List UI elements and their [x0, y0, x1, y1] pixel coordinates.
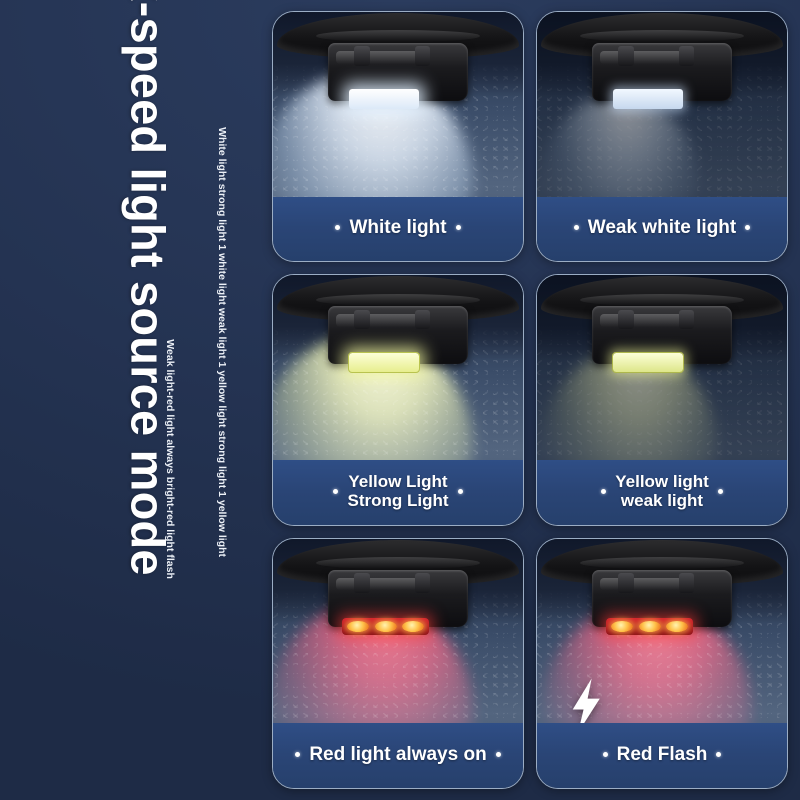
strap-clip-right [415, 573, 430, 593]
strap-clip-left [354, 573, 369, 593]
bullet-dot-right [456, 225, 461, 230]
lamp-housing [328, 570, 468, 628]
red-led-module [606, 618, 693, 635]
bullet-dot-left [574, 225, 579, 230]
headlamp-device [301, 17, 496, 117]
lamp-housing [592, 43, 732, 101]
led-emitter [347, 621, 369, 632]
led-emitter [375, 621, 397, 632]
mode-card-grid: White lightWeak white lightYellow LightS… [272, 11, 788, 789]
bullet-dot-left [601, 489, 606, 494]
mode-caption-bar: Red Flash [537, 723, 787, 788]
led-emitter [611, 621, 633, 632]
strap-clip-right [415, 46, 430, 66]
title-column: Six-speed light source mode White light … [0, 0, 270, 800]
strap-clip-right [679, 573, 694, 593]
mode-caption-bar: White light [273, 197, 523, 262]
lamp-housing [592, 570, 732, 628]
strap-clip-left [354, 310, 369, 330]
mode-label-line: White light [349, 217, 446, 239]
headlamp-device [565, 280, 760, 380]
lamp-housing [592, 306, 732, 364]
mode-label: Yellow lightweak light [615, 472, 709, 511]
subtitle-line-1: White light strong light 1 white light w… [215, 112, 229, 572]
headlamp-device [565, 17, 760, 117]
cob-led-panel [349, 353, 419, 373]
mode-label-line: Red Flash [617, 744, 708, 766]
infographic-page: Six-speed light source mode White light … [0, 0, 800, 800]
mode-caption-bar: Weak white light [537, 197, 787, 262]
mode-label-line: Yellow light [615, 472, 709, 491]
led-emitter [402, 621, 424, 632]
bullet-dot-right [716, 752, 721, 757]
strap-clip-left [618, 573, 633, 593]
mode-card-red-light-always-on[interactable]: Red light always on [272, 538, 524, 789]
mode-caption-bar: Yellow LightStrong Light [273, 460, 523, 525]
mode-caption-bar: Yellow lightweak light [537, 460, 787, 525]
mode-card-red-flash[interactable]: Red Flash [536, 538, 788, 789]
mode-caption-bar: Red light always on [273, 723, 523, 788]
mode-card-white-light[interactable]: White light [272, 11, 524, 262]
headlamp-device [565, 544, 760, 644]
mode-label-line: Red light always on [309, 744, 486, 766]
headlamp-device [301, 280, 496, 380]
bullet-dot-left [335, 225, 340, 230]
bullet-dot-right [718, 489, 723, 494]
mode-label: Yellow LightStrong Light [347, 472, 448, 511]
mode-label-line: Weak white light [588, 217, 737, 239]
mode-label: Red light always on [309, 744, 486, 766]
mode-card-weak-white-light[interactable]: Weak white light [536, 11, 788, 262]
strap-clip-right [415, 310, 430, 330]
strap-clip-left [618, 310, 633, 330]
bullet-dot-right [458, 489, 463, 494]
mode-label-line: Strong Light [347, 491, 448, 510]
cob-led-panel [349, 89, 419, 109]
lamp-housing [328, 306, 468, 364]
mode-label: White light [349, 217, 446, 239]
lamp-housing [328, 43, 468, 101]
led-emitter [639, 621, 661, 632]
mode-label: Weak white light [588, 217, 737, 239]
cob-led-panel [613, 89, 683, 109]
strap-clip-left [354, 46, 369, 66]
strap-clip-right [679, 310, 694, 330]
bullet-dot-right [745, 225, 750, 230]
mode-label: Red Flash [617, 744, 708, 766]
bullet-dot-right [496, 752, 501, 757]
mode-card-yellow-light-strong-light[interactable]: Yellow LightStrong Light [272, 274, 524, 525]
subtitle-line-2: Weak light-red light always bright-red l… [163, 229, 177, 689]
strap-clip-left [618, 46, 633, 66]
led-emitter [666, 621, 688, 632]
mode-card-yellow-light-weak-light[interactable]: Yellow lightweak light [536, 274, 788, 525]
bullet-dot-left [603, 752, 608, 757]
strap-clip-right [679, 46, 694, 66]
cob-led-panel [613, 353, 683, 373]
mode-label-line: weak light [615, 491, 709, 510]
bullet-dot-left [333, 489, 338, 494]
bullet-dot-left [295, 752, 300, 757]
headlamp-device [301, 544, 496, 644]
red-led-module [342, 618, 429, 635]
mode-label-line: Yellow Light [347, 472, 448, 491]
